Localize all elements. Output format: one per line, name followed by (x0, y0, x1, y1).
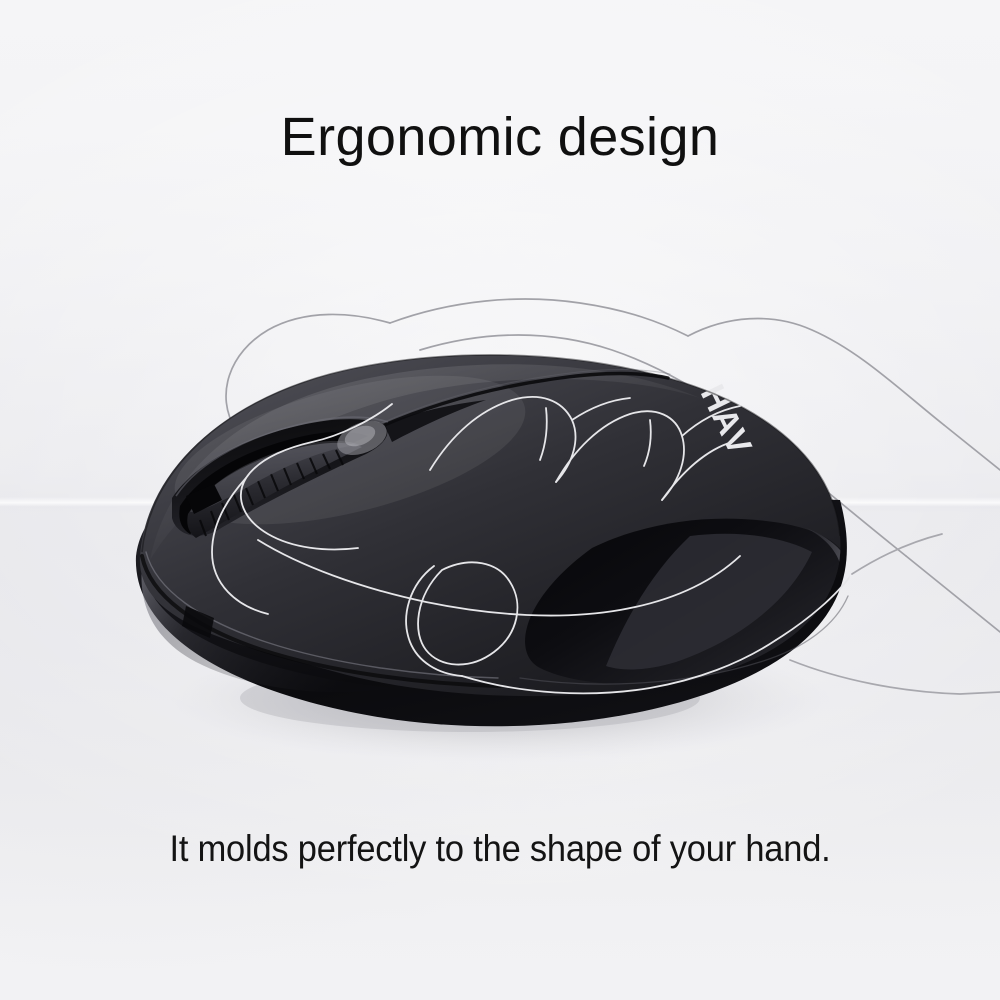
mouse-body: HAV (136, 346, 853, 726)
page-caption: It molds perfectly to the shape of your … (35, 829, 965, 870)
product-feature-slide: Ergonomic design (0, 0, 1000, 1000)
